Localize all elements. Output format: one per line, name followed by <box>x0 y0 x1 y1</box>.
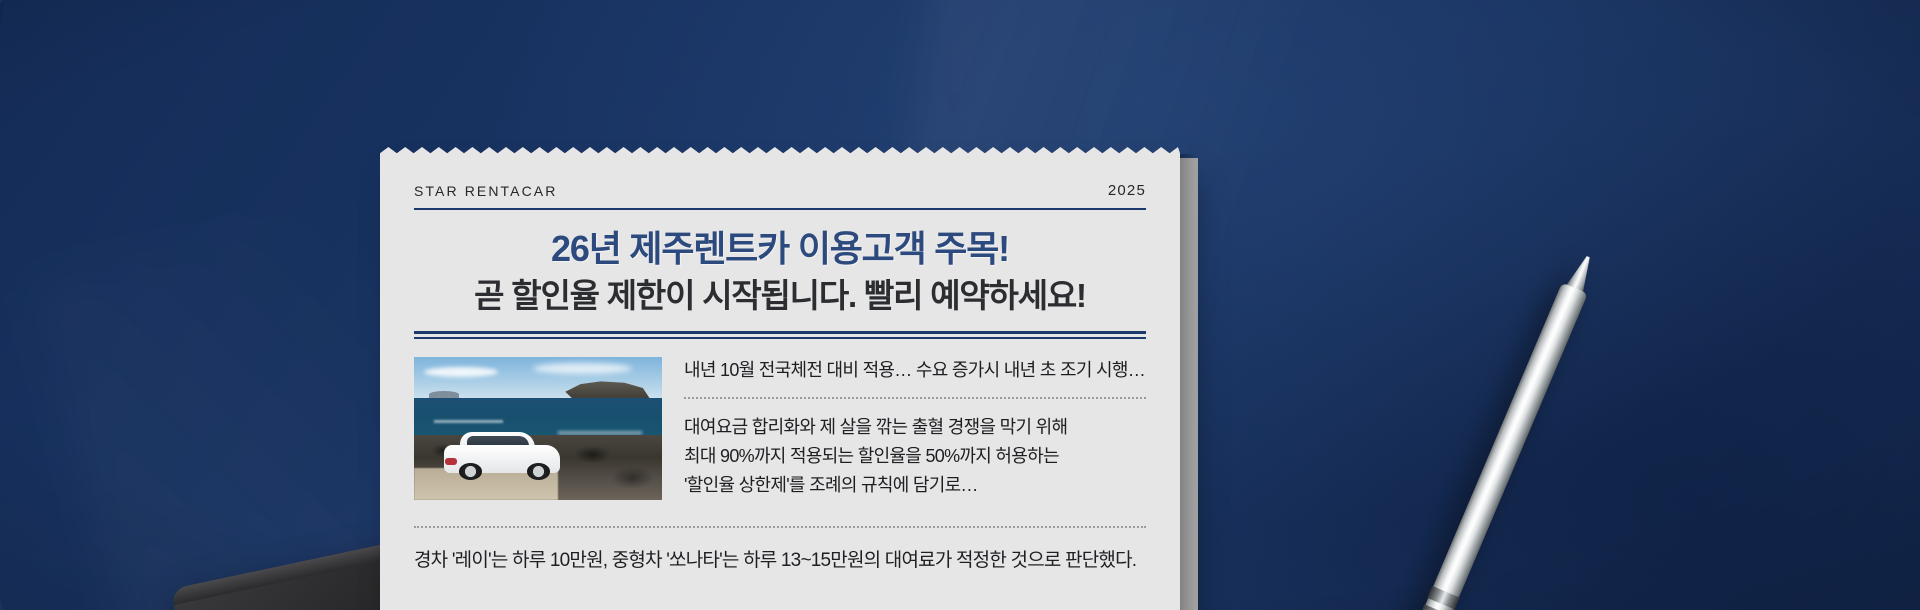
photo-cloud-left <box>424 367 498 377</box>
receipt-content: STAR RENTACAR 2025 26년 제주렌트카 이용고객 주목! 곧 … <box>380 160 1180 610</box>
paragraph-line-2: 최대 90%까지 적용되는 할인율을 50%까지 허용하는 <box>684 442 1146 471</box>
article-paragraph: 대여요금 합리화와 제 살을 깎는 출혈 경쟁을 막기 위해 최대 90%까지 … <box>684 399 1146 512</box>
brand-name: STAR RENTACAR <box>414 183 557 199</box>
headline-double-divider <box>414 331 1146 339</box>
receipt-edge-shadow <box>1180 154 1196 610</box>
photo-far-island <box>429 391 459 398</box>
paragraph-line-3: '할인율 상한제'를 조례의 규칙에 담기로… <box>684 471 1146 500</box>
headline-primary: 26년 제주렌트카 이용고객 주목! <box>414 227 1146 271</box>
suv-taillight <box>445 458 457 466</box>
paragraph-line-1: 대여요금 합리화와 제 살을 깎는 출혈 경쟁을 막기 위해 <box>684 413 1146 442</box>
article-text-column: 내년 10월 전국체전 대비 적용… 수요 증가시 내년 초 조기 시행… 대여… <box>684 357 1146 512</box>
article-photo <box>414 357 662 500</box>
divider-thin <box>414 337 1146 339</box>
footer-line: 경차 '레이'는 하루 10만원, 중형차 '쏘나타'는 하루 13~15만원의… <box>414 545 1146 572</box>
headline-secondary: 곧 할인율 제한이 시작됩니다. 빨리 예약하세요! <box>414 275 1146 318</box>
photo-wave-1 <box>434 420 503 423</box>
article-footer: 경차 '레이'는 하루 10만원, 중형차 '쏘나타'는 하루 13~15만원의… <box>414 526 1146 572</box>
headline-block: 26년 제주렌트카 이용고객 주목! 곧 할인율 제한이 시작됩니다. 빨리 예… <box>414 210 1146 318</box>
article-body: 내년 10월 전국체전 대비 적용… 수요 증가시 내년 초 조기 시행… 대여… <box>414 357 1146 512</box>
divider-thick <box>414 331 1146 334</box>
article-lead: 내년 10월 전국체전 대비 적용… 수요 증가시 내년 초 조기 시행… <box>684 357 1146 397</box>
suv-wheel-rear <box>459 463 482 480</box>
photo-white-suv <box>444 434 561 481</box>
year-label: 2025 <box>1108 182 1146 199</box>
suv-wheel-front <box>527 463 550 480</box>
receipt-card: STAR RENTACAR 2025 26년 제주렌트카 이용고객 주목! 곧 … <box>380 160 1180 610</box>
receipt-brand-row: STAR RENTACAR 2025 <box>414 182 1146 208</box>
photo-cloud-right <box>533 363 632 374</box>
